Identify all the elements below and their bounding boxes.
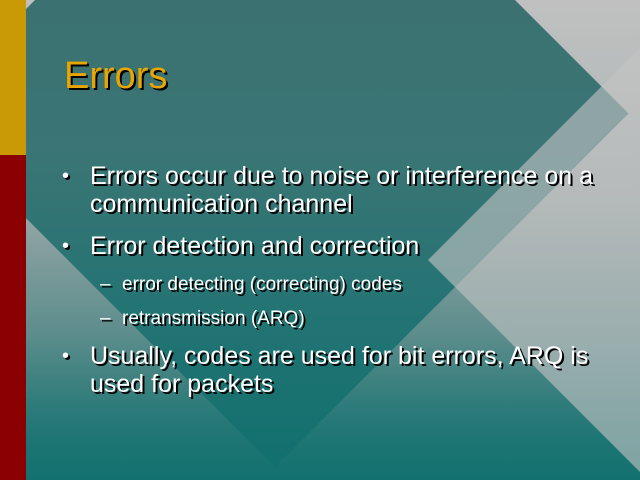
bullet-item: • Usually, codes are used for bit errors… xyxy=(62,342,607,398)
dash-marker-icon: – xyxy=(100,274,122,296)
dash-marker-icon: – xyxy=(100,308,122,330)
sub-bullet-text: retransmission (ARQ) xyxy=(122,308,607,330)
slide-title: Errors xyxy=(64,55,167,98)
sub-bullet-text: error detecting (correcting) codes xyxy=(122,274,607,296)
bullet-marker-icon: • xyxy=(62,342,90,370)
bullet-text: Error detection and correction xyxy=(90,232,607,260)
sub-bullet-item: – retransmission (ARQ) xyxy=(100,308,607,330)
bullet-text: Errors occur due to noise or interferenc… xyxy=(90,162,607,218)
bullet-item: • Errors occur due to noise or interfere… xyxy=(62,162,607,218)
sub-bullet-item: – error detecting (correcting) codes xyxy=(100,274,607,296)
bullet-marker-icon: • xyxy=(62,232,90,260)
bullet-marker-icon: • xyxy=(62,162,90,190)
bullet-item: • Error detection and correction xyxy=(62,232,607,260)
slide-content: Errors • Errors occur due to noise or in… xyxy=(0,0,640,480)
presentation-slide: Errors • Errors occur due to noise or in… xyxy=(0,0,640,480)
slide-body-bullet-list: • Errors occur due to noise or interfere… xyxy=(62,162,607,412)
bullet-text: Usually, codes are used for bit errors, … xyxy=(90,342,607,398)
